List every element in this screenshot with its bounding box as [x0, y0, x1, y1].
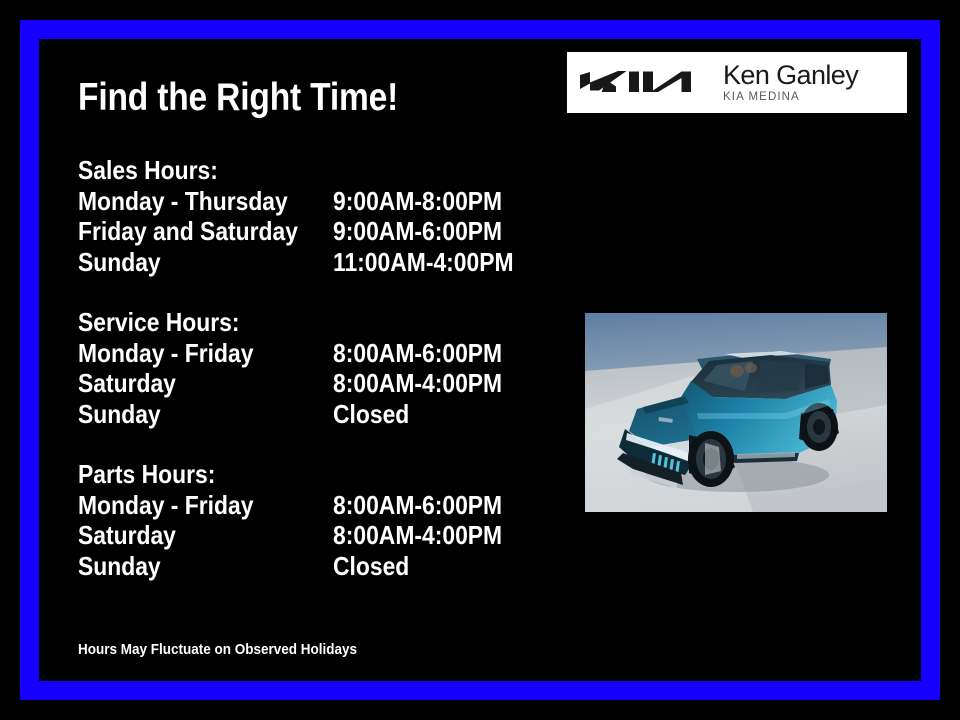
hours-row-time: 8:00AM-4:00PM — [333, 520, 502, 551]
hours-row-time: 8:00AM-4:00PM — [333, 368, 502, 399]
hours-row: Sunday Closed — [78, 551, 548, 582]
section-heading-service: Service Hours: — [78, 307, 548, 338]
hours-row-time: 9:00AM-8:00PM — [333, 186, 502, 217]
dealer-logo-text: Ken Ganley KIA MEDINA — [723, 61, 858, 104]
hours-row-day: Monday - Friday — [78, 338, 333, 369]
hours-row-day: Monday - Thursday — [78, 186, 333, 217]
footer-note: Hours May Fluctuate on Observed Holidays — [78, 640, 357, 660]
hours-row-day: Monday - Friday — [78, 490, 333, 521]
hours-section-parts: Parts Hours: Monday - Friday 8:00AM-6:00… — [78, 459, 548, 581]
hours-row-time: Closed — [333, 551, 409, 582]
hours-row: Monday - Friday 8:00AM-6:00PM — [78, 338, 548, 369]
section-heading-sales-label: Sales Hours: — [78, 155, 218, 186]
hours-row-time: Closed — [333, 399, 409, 430]
vehicle-photo-artwork — [585, 313, 887, 512]
slide-canvas: Find the Right Time! Sales Hours: Monday… — [0, 0, 960, 720]
hours-row-day: Friday and Saturday — [78, 216, 333, 247]
hours-row: Monday - Friday 8:00AM-6:00PM — [78, 490, 548, 521]
section-heading-sales: Sales Hours: — [78, 155, 548, 186]
hours-section-sales: Sales Hours: Monday - Thursday 9:00AM-8:… — [78, 155, 548, 277]
page-title: Find the Right Time! — [78, 76, 398, 120]
hours-row: Saturday 8:00AM-4:00PM — [78, 520, 548, 551]
hours-row-day: Saturday — [78, 520, 333, 551]
hours-row: Saturday 8:00AM-4:00PM — [78, 368, 548, 399]
hours-section-service: Service Hours: Monday - Friday 8:00AM-6:… — [78, 307, 548, 429]
hours-row: Sunday 11:00AM-4:00PM — [78, 247, 548, 278]
section-heading-parts-label: Parts Hours: — [78, 459, 215, 490]
hours-row-time: 11:00AM-4:00PM — [333, 247, 514, 278]
vehicle-photo — [585, 313, 887, 512]
hours-row: Sunday Closed — [78, 399, 548, 430]
section-heading-parts: Parts Hours: — [78, 459, 548, 490]
dealer-sub-name: KIA MEDINA — [723, 90, 858, 104]
hours-row-time: 8:00AM-6:00PM — [333, 490, 502, 521]
hours-row-time: 8:00AM-6:00PM — [333, 338, 502, 369]
hours-row-time: 9:00AM-6:00PM — [333, 216, 502, 247]
hours-row-day: Sunday — [78, 551, 333, 582]
dealer-logo-panel: Ken Ganley KIA MEDINA — [567, 52, 907, 113]
hours-row-day: Saturday — [78, 368, 333, 399]
section-heading-service-label: Service Hours: — [78, 307, 240, 338]
hours-row: Monday - Thursday 9:00AM-8:00PM — [78, 186, 548, 217]
dealer-name: Ken Ganley — [723, 61, 858, 89]
slide-content: Find the Right Time! Sales Hours: Monday… — [0, 0, 960, 720]
hours-row-day: Sunday — [78, 247, 333, 278]
hours-row: Friday and Saturday 9:00AM-6:00PM — [78, 216, 548, 247]
kia-wordmark-icon — [579, 67, 707, 99]
hours-listing: Sales Hours: Monday - Thursday 9:00AM-8:… — [78, 155, 548, 581]
hours-row-day: Sunday — [78, 399, 333, 430]
